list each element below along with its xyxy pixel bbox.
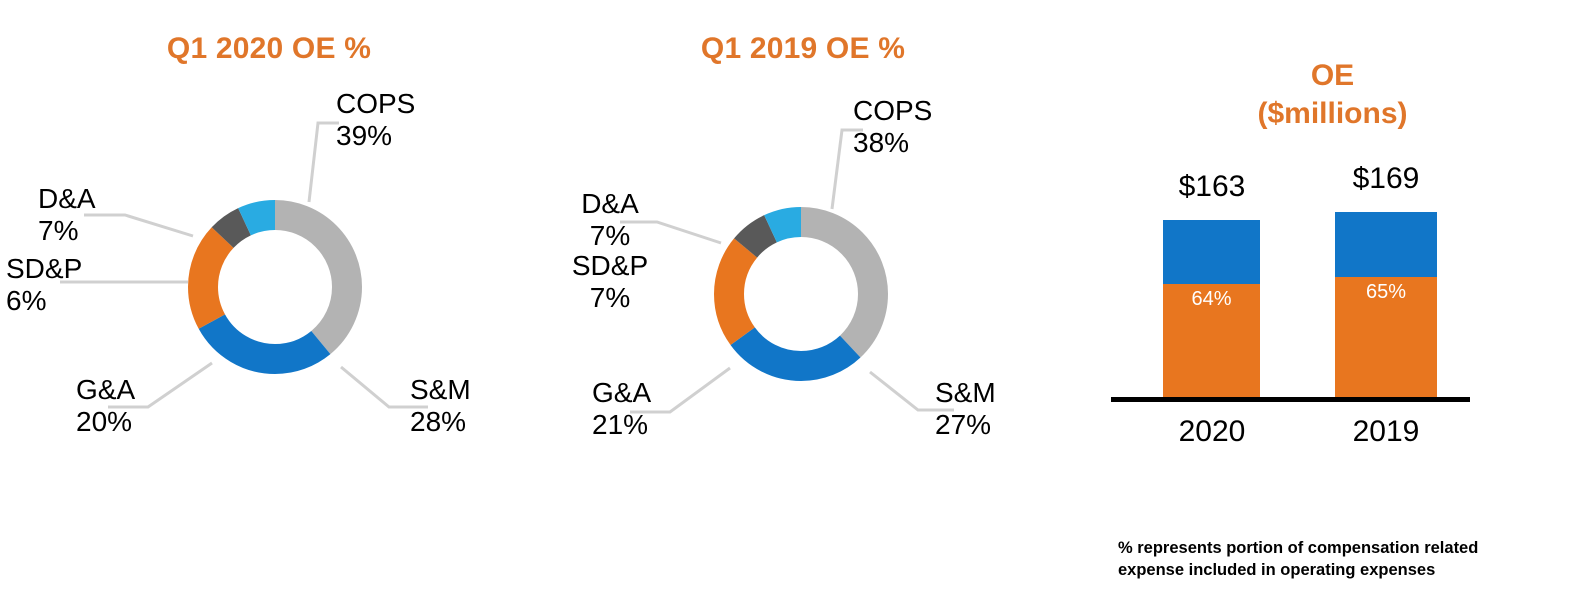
donut-2019-callout-ga-value: 21% <box>592 409 651 441</box>
donut-2019-callout-sm: S&M 27% <box>935 377 996 442</box>
donut-2019-ring <box>729 222 873 366</box>
donut-2020-callout-cops-value: 39% <box>336 120 415 152</box>
bar-2019-total-label: $169 <box>1325 162 1447 196</box>
bar-chart-footnote-line2: expense included in operating expenses <box>1118 560 1538 582</box>
donut-2019-callout-sm-name: S&M <box>935 377 996 408</box>
bar-2020-segment-other <box>1163 220 1260 284</box>
donut-2019-callout-ga: G&A 21% <box>592 377 651 442</box>
bar-2019-segment-other <box>1335 212 1437 277</box>
donut-2019-callout-cops: COPS 38% <box>853 95 932 160</box>
donut-2020-callout-cops-name: COPS <box>336 88 415 119</box>
donut-2020-callout-sm: S&M 28% <box>410 374 471 439</box>
bar-chart-footnote: % represents portion of compensation rel… <box>1118 538 1538 582</box>
donut-2019-callout-cops-name: COPS <box>853 95 932 126</box>
donut-2019-callout-da-name: D&A <box>581 188 639 219</box>
leader-line-da <box>84 215 193 236</box>
donut-2020-callout-sdp-name: SD&P <box>6 253 82 284</box>
donut-2019-callout-ga-name: G&A <box>592 377 651 408</box>
bar-2020-total-label: $163 <box>1151 170 1273 204</box>
donut-2020-callout-ga-value: 20% <box>76 406 135 438</box>
donut-2020-ring <box>203 215 347 359</box>
bar-2020-category-label: 2020 <box>1151 415 1273 449</box>
donut-2020-callout-sm-name: S&M <box>410 374 471 405</box>
donut-2020-callout-cops: COPS 39% <box>336 88 415 153</box>
donut-2019-callout-sdp: SD&P 7% <box>544 250 676 315</box>
donut-2020-callout-da: D&A 7% <box>38 183 96 248</box>
donut-2020-callout-ga: G&A 20% <box>76 374 135 439</box>
donut-2019-callout-cops-value: 38% <box>853 127 932 159</box>
donut-2019-callout-da: D&A 7% <box>550 188 670 253</box>
donut-2020-callout-ga-name: G&A <box>76 374 135 405</box>
donut-chart-2019: Q1 2019 OE % COPS 38% S&M <box>530 0 1090 613</box>
bar-2020-pct-label: 64% <box>1163 288 1260 311</box>
donut-2020-callout-sdp-value: 6% <box>6 285 82 317</box>
donut-2019-callout-da-value: 7% <box>550 220 670 252</box>
bar-2019-pct-label: 65% <box>1335 281 1437 304</box>
leader-line-cops <box>309 123 339 202</box>
donut-2019-callout-sm-value: 27% <box>935 409 996 441</box>
donut-2020-callout-sm-value: 28% <box>410 406 471 438</box>
donut-2019-callout-sdp-name: SD&P <box>572 250 648 281</box>
donut-2020-callout-da-name: D&A <box>38 183 96 214</box>
donut-2020-callout-sdp: SD&P 6% <box>6 253 82 318</box>
donut-2020-callout-da-value: 7% <box>38 215 96 247</box>
donut-2019-callout-sdp-value: 7% <box>544 282 676 314</box>
bar-chart-oe-millions: OE ($millions) $163 $169 64% 65% 2020 20… <box>1090 0 1575 613</box>
bar-chart-footnote-line1: % represents portion of compensation rel… <box>1118 538 1538 560</box>
bar-2019-category-label: 2019 <box>1325 415 1447 449</box>
donut-chart-2020: Q1 2020 OE % COPS <box>0 0 530 613</box>
